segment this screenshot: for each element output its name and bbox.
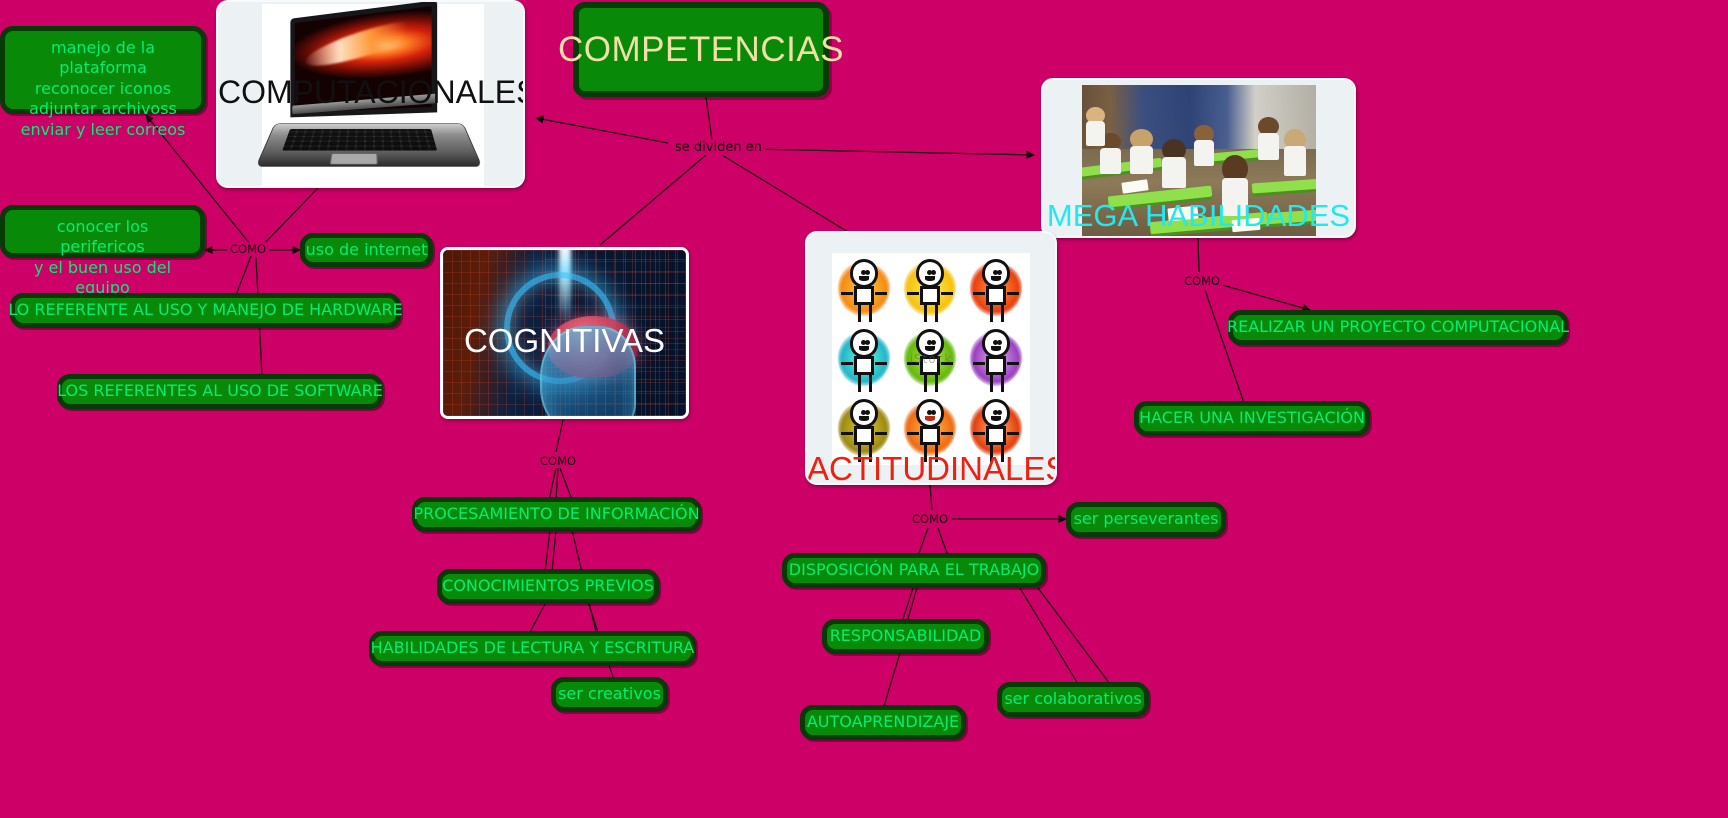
root-node-competencias[interactable]: COMPETENCIAS [573,2,829,97]
node-habilidades-lectura-label: HABILIDADES DE LECTURA Y ESCRITURA [371,638,695,658]
branch-node-mega-habilidades[interactable]: MEGA HABILIDADES [1041,78,1356,238]
laptop-photo [262,4,484,188]
node-habilidades-lectura[interactable]: HABILIDADES DE LECTURA Y ESCRITURA [369,631,696,666]
edge-hub-cognitivas [600,155,706,245]
edge-disposicion-colaborativos-2 [1038,588,1110,684]
edge-disposicion-responsabilidad [902,588,913,622]
node-referentes-software-label: LOS REFERENTES AL USO DE SOFTWARE [57,381,383,401]
node-manejo-plataforma-line3: adjuntar archivoss [16,99,190,119]
edge-disposicion-colaborativos [1020,588,1078,684]
node-realizar-proyecto-label: REALIZAR UN PROYECTO COMPUTACIONAL [1227,317,1569,337]
edge-como-proyecto [1222,285,1310,310]
root-label: COMPETENCIAS [558,30,844,70]
edge-mega-como [1198,238,1199,272]
node-uso-internet[interactable]: uso de internet [300,233,433,267]
node-ser-creativos-label: ser creativos [558,684,661,704]
edge-como-procesamiento-3 [560,468,572,500]
edge-procesamiento-conocimientos-2 [552,530,556,572]
branch-node-computacionales[interactable]: COMPUTACIONALES [216,0,525,188]
node-manejo-plataforma-line2: reconocer iconos [16,79,190,99]
node-disposicion-trabajo[interactable]: DISPOSICIÓN PARA EL TRABAJO [782,553,1046,588]
edge-hub-actitudinales [722,155,848,232]
edge-como-hardware [236,256,251,295]
node-manejo-plataforma[interactable]: manejo de la plataforma reconocer iconos… [0,26,206,114]
edge-label-se-dividen-en: se dividen en [672,140,765,155]
node-conocimientos-previos[interactable]: CONOCIMIENTOS PREVIOS [437,569,659,604]
edge-como-disposicion [918,528,928,556]
node-conocer-perifericos-line1: conocer los perifericos [16,217,189,258]
node-ser-perseverantes-label: ser perseverantes [1074,509,1219,529]
edge-como-disposicion-2 [938,528,948,556]
node-hacer-investigacion[interactable]: HACER UNA INVESTIGACIÓN [1134,401,1370,436]
node-autoaprendizaje[interactable]: AUTOAPRENDIZAJE [800,705,966,740]
edge-actitudinales-como [930,485,932,510]
edge-cognitivas-como [556,420,563,452]
edge-label-como-cognitivas: COMO [537,454,579,468]
node-uso-internet-label: uso de internet [306,240,428,260]
branch-node-cognitivas[interactable]: COGNITIVAS [440,247,689,419]
node-responsabilidad[interactable]: RESPONSABILIDAD [822,619,989,654]
node-referente-hardware-label: LO REFERENTE AL USO Y MANEJO DE HARDWARE [8,300,402,320]
node-disposicion-trabajo-label: DISPOSICIÓN PARA EL TRABAJO [789,560,1039,580]
edge-label-como-actitudinales: COMO [909,512,951,526]
node-realizar-proyecto[interactable]: REALIZAR UN PROYECTO COMPUTACIONAL [1228,310,1568,345]
node-referentes-software[interactable]: LOS REFERENTES AL USO DE SOFTWARE [57,374,383,409]
mindmap-canvas: COMPETENCIAS se dividen en COMO COMO COM… [0,0,1728,818]
edge-como-investigacion [1205,290,1244,403]
edge-hub-mega [750,149,1034,155]
node-referente-hardware[interactable]: LO REFERENTE AL USO Y MANEJO DE HARDWARE [10,293,401,328]
node-procesamiento-informacion[interactable]: PROCESAMIENTO DE INFORMACIÓN [412,497,701,532]
node-hacer-investigacion-label: HACER UNA INVESTIGACIÓN [1139,408,1365,428]
edge-hub-computacionales [536,118,668,143]
node-ser-colaborativos-label: ser colaborativos [1004,689,1141,709]
node-ser-creativos[interactable]: ser creativos [551,677,668,712]
edge-label-como-mega: COMO [1181,274,1223,288]
node-responsabilidad-label: RESPONSABILIDAD [830,626,982,646]
edge-disposicion-responsabilidad-2 [907,588,917,622]
edge-label-como-computacionales: COMO [227,242,269,256]
classroom-photo [1082,85,1316,237]
node-conocer-perifericos[interactable]: conocer los perifericos y el buen uso de… [0,205,205,258]
node-manejo-plataforma-line1: manejo de la plataforma [16,38,190,79]
edge-responsabilidad-autoaprendizaje [884,653,900,706]
edge-como-procesamiento [549,468,556,500]
stock-watermark: iStock [910,352,953,366]
stick-figures-photo: iStock [832,253,1030,465]
ai-brain-photo [443,250,686,416]
edge-conocimientos-habilidades [530,602,546,632]
edge-como-procesamiento-2 [556,468,558,500]
branch-node-actitudinales[interactable]: iStock ACTITUDINALES [805,231,1057,485]
edge-root-to-hub [706,97,712,140]
edge-procesamiento-conocimientos [545,530,550,572]
node-ser-perseverantes[interactable]: ser perseverantes [1066,502,1226,537]
node-conocimientos-previos-label: CONOCIMIENTOS PREVIOS [442,576,654,596]
node-autoaprendizaje-label: AUTOAPRENDIZAJE [807,712,959,732]
node-procesamiento-informacion-label: PROCESAMIENTO DE INFORMACIÓN [413,504,699,524]
node-manejo-plataforma-line4: enviar y leer correos [16,120,190,140]
node-ser-colaborativos[interactable]: ser colaborativos [997,682,1149,717]
